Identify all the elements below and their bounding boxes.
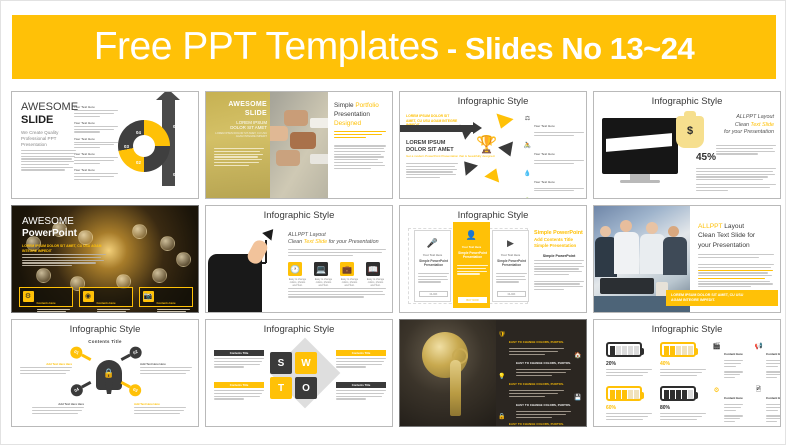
slide5-accent-caption: LOREM IPSUM DOLOR SIT AMET, CU USU AGAM …: [22, 244, 104, 253]
swot-quadrant-w: W: [295, 352, 317, 374]
chart-arrow-head: [262, 225, 278, 240]
card-body-lines: [418, 273, 449, 284]
slide8-heading: ALLPPT Layout Clean Text Slide for your …: [698, 222, 776, 250]
slide-thumbnail-6[interactable]: Infographic Style ALLPPT Layout Clean Te…: [205, 205, 393, 313]
slide8-bottom-banner: LOREM IPSUM DOLOR SIT AMET, CU USU AGAM …: [666, 290, 778, 306]
list-item: 🖻 Content Here: [754, 386, 781, 424]
slide3-body-lines: [406, 163, 458, 180]
pricing-card-1[interactable]: 🎤 Your Text Here Simple PowerPoint Prese…: [414, 230, 451, 302]
swot-block-3: Contents Title: [214, 382, 264, 401]
slide6-title: Infographic Style: [206, 210, 392, 221]
shield-icon: 🛡: [498, 330, 506, 338]
monitor-icon: 💻: [314, 262, 328, 276]
battery-text-80: [660, 413, 706, 421]
list-item: Your Text Here: [74, 122, 118, 133]
megaphone-icon: 📢: [754, 342, 763, 350]
list-item: Your Text Here: [74, 138, 118, 149]
list-item[interactable]: ◉Contents Here: [79, 287, 133, 307]
home-icon: 🏠: [574, 351, 582, 359]
slide1-caption-list: Your Text Here Your Text Here Your Text …: [74, 106, 118, 185]
target-icon: ◉: [83, 291, 94, 302]
cycle-arrow-right: [498, 141, 518, 159]
list-item[interactable]: 💼Easy to change colors, photos and Text.: [340, 262, 359, 288]
battery-text-40: [660, 369, 706, 377]
gold-key-photo: [400, 320, 496, 426]
slide8-body-2: [698, 264, 774, 289]
swot-block-4: Contents Title: [336, 382, 386, 401]
card-body-lines: [496, 273, 527, 284]
slide9-block-4: Add Text Here Here: [134, 402, 186, 416]
monitor-base: [620, 180, 660, 183]
slide1-num-03: 03: [124, 144, 129, 149]
slide9-title: Infographic Style: [12, 324, 198, 335]
slide3-title: Infographic Style: [400, 96, 586, 107]
slide2-right-panel: Simple Portfolio Presentation Designed: [328, 92, 393, 198]
mic-icon: 🎤: [415, 238, 450, 249]
key-blade: [450, 360, 461, 416]
key-03: 03: [120, 379, 143, 396]
slide4-right-heading: ALLPPT Layout Clean Text Slide for your …: [692, 114, 774, 137]
slide9-contents-title: Contents Title: [12, 339, 198, 344]
slide1-num-01: 01: [173, 172, 178, 177]
slide10-title: Infographic Style: [206, 324, 392, 335]
slide4-body-2: [696, 168, 776, 182]
slide-thumbnail-2[interactable]: AWESOME SLIDE LOREM IPSUM DOLOR SIT AMET…: [205, 91, 393, 199]
slide6-body-1: [288, 249, 386, 257]
battery-text-20: [606, 369, 652, 377]
banner-title-main: Free PPT Templates: [94, 25, 439, 68]
user-icon: 👤: [454, 230, 489, 241]
slide9-block-1: Add Text Here Here: [20, 362, 72, 376]
battery-percent-20: 20%: [606, 361, 616, 367]
pin-icon: ⚖: [524, 114, 531, 122]
list-item: 💧Your Text Here: [524, 170, 584, 194]
battery-percent-60: 60%: [606, 405, 616, 411]
slide-thumbnail-1[interactable]: AWESOME SLIDE We Create Quality Professi…: [11, 91, 199, 199]
slide-thumbnail-4[interactable]: Infographic Style $ ALLPPT Layout Clean …: [593, 91, 781, 199]
pricing-card-3[interactable]: ▶ Your Text Here Simple PowerPoint Prese…: [492, 230, 529, 302]
list-item[interactable]: 💻Easy to change colors, photos and Text.: [314, 262, 333, 288]
list-item: 🎬 Content Here: [712, 342, 756, 380]
slide1-title-line2: SLIDE: [21, 114, 53, 126]
card-button[interactable]: BUY NOW: [458, 297, 487, 303]
slide9-block-2: Add Text Here Here: [140, 362, 192, 376]
list-item: 🚴Your Text Here: [524, 142, 584, 166]
cycle-arrow-left: [458, 156, 478, 175]
swot-quadrant-s: S: [270, 352, 292, 374]
list-item: Your Text Here: [74, 106, 118, 117]
header-banner: Free PPT Templates - Slides No 13~24: [12, 15, 776, 79]
slide-thumbnail-3[interactable]: Infographic Style LOREM IPSUM DOLOR SIT …: [399, 91, 587, 199]
slide2-body-lines: [214, 148, 264, 167]
cycle-arrow-top: [492, 114, 513, 132]
key-04: 04: [70, 379, 93, 396]
slide5-title-line1: AWESOME: [22, 216, 74, 227]
slide-thumbnail-8[interactable]: ALLPPT Layout Clean Text Slide for your …: [593, 205, 781, 313]
tree-icon: 🌳: [524, 197, 531, 199]
pricing-card-2[interactable]: 👤 Your Text Here Simple PowerPoint Prese…: [453, 222, 490, 308]
slide7-title: Infographic Style: [400, 210, 586, 221]
slide4-body-1: [716, 145, 776, 156]
list-item: 🔒 EASY TO CHANGE COLORS, PHOTOS.: [498, 412, 582, 427]
camera-icon: 📷: [143, 291, 154, 302]
slide-thumbnail-11[interactable]: 🛡 EASY TO CHANGE COLORS, PHOTOS. 🏠 EASY …: [399, 319, 587, 427]
slide5-card-row: ⚙Contents Here ◉Contents Here 📷Contents …: [19, 287, 193, 307]
bike-icon: 🚴: [524, 142, 531, 150]
key-02: 02: [120, 346, 143, 363]
battery-icon-40: [660, 342, 696, 357]
slide2-right-heading: Simple Portfolio Presentation Designed: [334, 101, 379, 128]
banner-title-sub: - Slides No 13~24: [439, 31, 694, 66]
slide2-micro-caption: LOREM IPSUM DOLOR SIT AMET, CU USU AGAM …: [211, 132, 267, 139]
slide-grid: AWESOME SLIDE We Create Quality Professi…: [9, 91, 781, 436]
list-item: 🌳Your Text Here: [524, 197, 584, 199]
slide4-title: Infographic Style: [594, 96, 780, 107]
slide6-right-heading: ALLPPT Layout Clean Text Slide for your …: [288, 232, 388, 247]
clock-icon: 🕐: [288, 262, 302, 276]
slide-thumbnail-9[interactable]: Infographic Style Contents Title 🔒 01 02…: [11, 319, 199, 427]
slide6-icon-row: 🕐Easy to change colors, photos and Text.…: [288, 262, 388, 288]
list-item: 📢 Content Here: [754, 342, 781, 380]
swot-block-1: Contents Title: [214, 350, 264, 369]
thumbnail-sheet: Free PPT Templates - Slides No 13~24 AWE…: [0, 0, 786, 445]
slide5-body-lines: [22, 254, 106, 268]
slide2-title-line1: AWESOME: [211, 101, 267, 108]
card-body-lines: [457, 265, 488, 276]
slide1-num-04: 04: [136, 130, 141, 135]
slide4-percent: 45%: [696, 152, 716, 163]
banner-title: Free PPT Templates - Slides No 13~24: [94, 25, 695, 69]
banner-text: LOREM IPSUM DOLOR SIT AMET, CU USU AGAM …: [671, 293, 743, 303]
list-item[interactable]: 📷Contents Here: [139, 287, 193, 307]
card-button[interactable]: CLICK: [497, 291, 526, 297]
list-item: Your Text Here: [74, 153, 118, 164]
image-icon: 🖻: [754, 386, 763, 394]
slide1-title-line1: AWESOME: [21, 101, 78, 113]
swot-quadrant-o: O: [295, 377, 317, 399]
battery-text-60: [606, 413, 652, 421]
gear-icon: ⚙: [23, 291, 34, 302]
swot-block-2: Contents Title: [336, 350, 386, 369]
battery-icon-20: [606, 342, 642, 357]
list-item: Your Text Here: [74, 169, 118, 180]
trophy-icon: 🏆: [476, 136, 497, 153]
key-01: 01: [70, 346, 93, 363]
slide9-block-3: Add Text Here Here: [32, 402, 84, 416]
drop-icon: 💧: [524, 170, 531, 178]
cycle-arrow-bottom: [484, 165, 503, 182]
swot-quadrant-t: T: [270, 377, 292, 399]
save-icon: 💾: [574, 393, 582, 401]
slide3-heading: LOREM IPSUM DOLOR SIT AMET: [406, 140, 454, 153]
slide1-body-lines: [21, 150, 76, 172]
slide1-num-02: 02: [136, 160, 141, 165]
list-item[interactable]: ⚙Contents Here: [19, 287, 73, 307]
slide3-list: ⚖Your Text Here 🚴Your Text Here 💧Your Te…: [524, 114, 584, 199]
gear-icon: ⚙: [712, 386, 721, 394]
book-icon: 📖: [366, 262, 380, 276]
bulb-icon: 💡: [498, 372, 506, 380]
slide6-body-2: [288, 288, 386, 299]
battery-icon-80: [660, 386, 696, 401]
slide-thumbnail-12[interactable]: Infographic Style 20% 40%: [593, 319, 781, 427]
list-item[interactable]: 📖Easy to change colors, photos and Text.: [366, 262, 385, 288]
slide-thumbnail-7[interactable]: Infographic Style 🎤 Your Text Here Simpl…: [399, 205, 587, 313]
list-item: ⚙ Content Here: [712, 386, 756, 424]
slide-thumbnail-10[interactable]: Infographic Style S W T O Contents Title…: [205, 319, 393, 427]
lock-icon: 🔒: [498, 412, 506, 420]
play-icon: ▶: [493, 238, 528, 249]
slide2-right-body: [334, 131, 386, 170]
slide-thumbnail-5[interactable]: AWESOME PowerPoint LOREM IPSUM DOLOR SIT…: [11, 205, 199, 313]
slide3-sub: Get a modern PowerPoint Presentation tha…: [406, 154, 495, 158]
slide12-title: Infographic Style: [594, 324, 780, 335]
briefcase-icon: 💼: [340, 262, 354, 276]
slide1-subtitle: We Create Quality Professional PPT Prese…: [21, 130, 79, 148]
lock-icon: 🔒: [98, 368, 120, 379]
battery-icon-60: [606, 386, 642, 401]
slide2-title-line2: SLIDE: [211, 110, 267, 117]
list-item[interactable]: 🕐Easy to change colors, photos and Text.: [288, 262, 307, 288]
slide1-num-05: 05: [173, 124, 178, 129]
slide4-body-3: [696, 184, 776, 192]
battery-percent-80: 80%: [660, 405, 670, 411]
list-item: ⚖Your Text Here: [524, 114, 584, 138]
slide7-right-panel: Simple PowerPoint Add Contents Title Sim…: [534, 230, 584, 292]
slide5-title-line2: PowerPoint: [22, 228, 77, 239]
battery-percent-40: 40%: [660, 361, 670, 367]
slide2-subtitle: LOREM IPSUM DOLOR SIT AMET: [211, 120, 267, 131]
slide8-body-1: [698, 254, 774, 260]
card-button[interactable]: CLICK: [419, 291, 448, 297]
film-icon: 🎬: [712, 342, 721, 350]
